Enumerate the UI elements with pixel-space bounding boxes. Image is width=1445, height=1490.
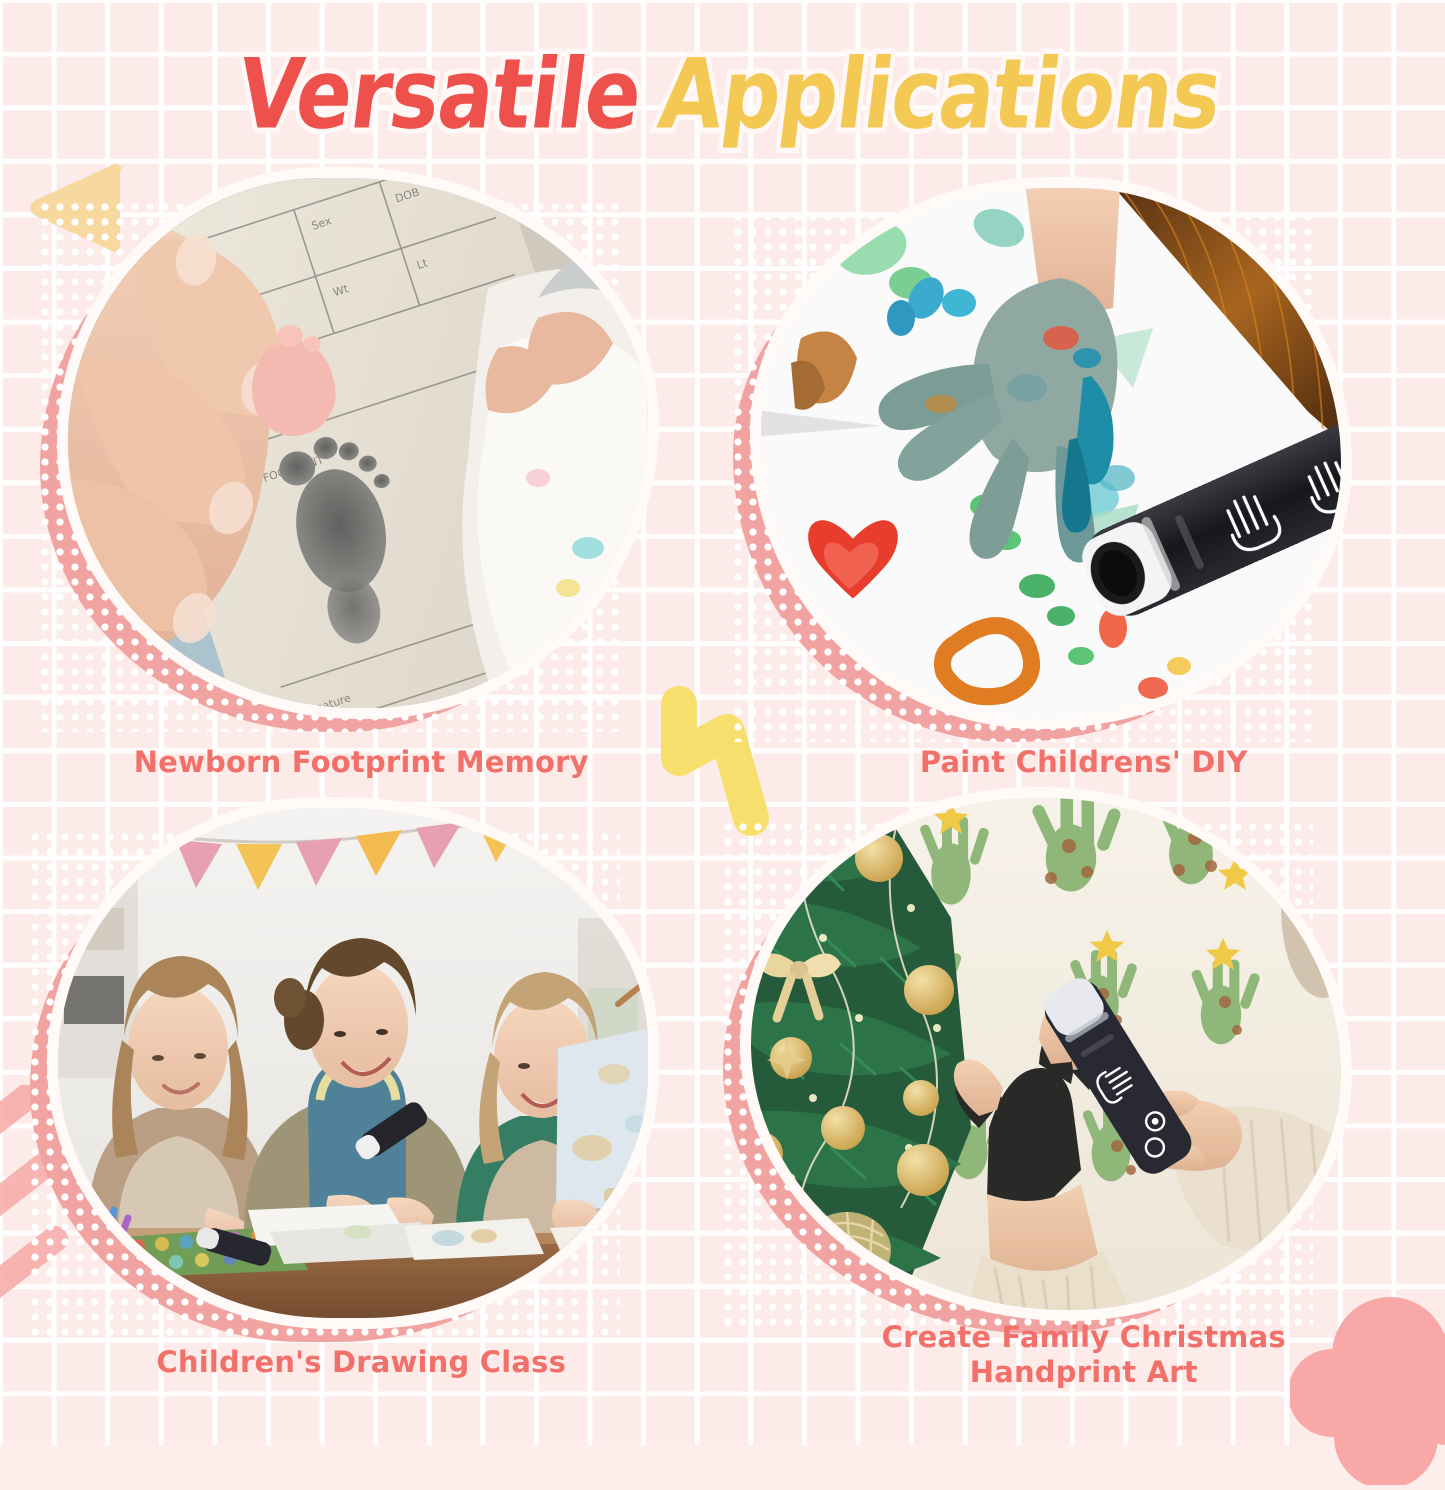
photo-frame: IDENTIFICATION SHEET Name Sex DOB Hospit…	[68, 178, 648, 708]
card-family-christmas-handprint[interactable]: Create Family Christmas Handprint Art	[723, 790, 1445, 1445]
title-word-applications: Applications	[653, 39, 1227, 151]
page-title: VersatileApplications	[0, 56, 1445, 151]
caption-line-1: Children's Drawing Class	[156, 1345, 566, 1379]
card-paint-childrens-diy[interactable]: Paint Childrens' DIY	[723, 170, 1445, 790]
photo-frame	[58, 808, 648, 1318]
caption-family-christmas-handprint: Create Family Christmas Handprint Art	[723, 1320, 1445, 1391]
title-word-versatile: Versatile	[232, 39, 647, 151]
caption-paint-childrens-diy: Paint Childrens' DIY	[723, 745, 1445, 780]
caption-newborn-footprint: Newborn Footprint Memory	[0, 745, 723, 780]
caption-childrens-drawing-class: Children's Drawing Class	[0, 1345, 723, 1380]
card-newborn-footprint[interactable]: IDENTIFICATION SHEET Name Sex DOB Hospit…	[0, 170, 723, 790]
card-childrens-drawing-class[interactable]: Children's Drawing Class	[0, 790, 723, 1445]
caption-line-1: Newborn Footprint Memory	[134, 745, 589, 779]
photo-paint-childrens-diy	[761, 188, 1341, 718]
photo-frame	[751, 798, 1341, 1310]
photo-newborn-footprint: IDENTIFICATION SHEET Name Sex DOB Hospit…	[68, 178, 648, 708]
caption-line-1: Paint Childrens' DIY	[920, 745, 1248, 779]
caption-line-1: Create Family Christmas	[882, 1320, 1286, 1354]
photo-childrens-drawing-class	[58, 808, 648, 1318]
caption-line-2: Handprint Art	[723, 1355, 1445, 1390]
applications-grid: IDENTIFICATION SHEET Name Sex DOB Hospit…	[0, 170, 1445, 1445]
photo-frame	[761, 188, 1341, 718]
